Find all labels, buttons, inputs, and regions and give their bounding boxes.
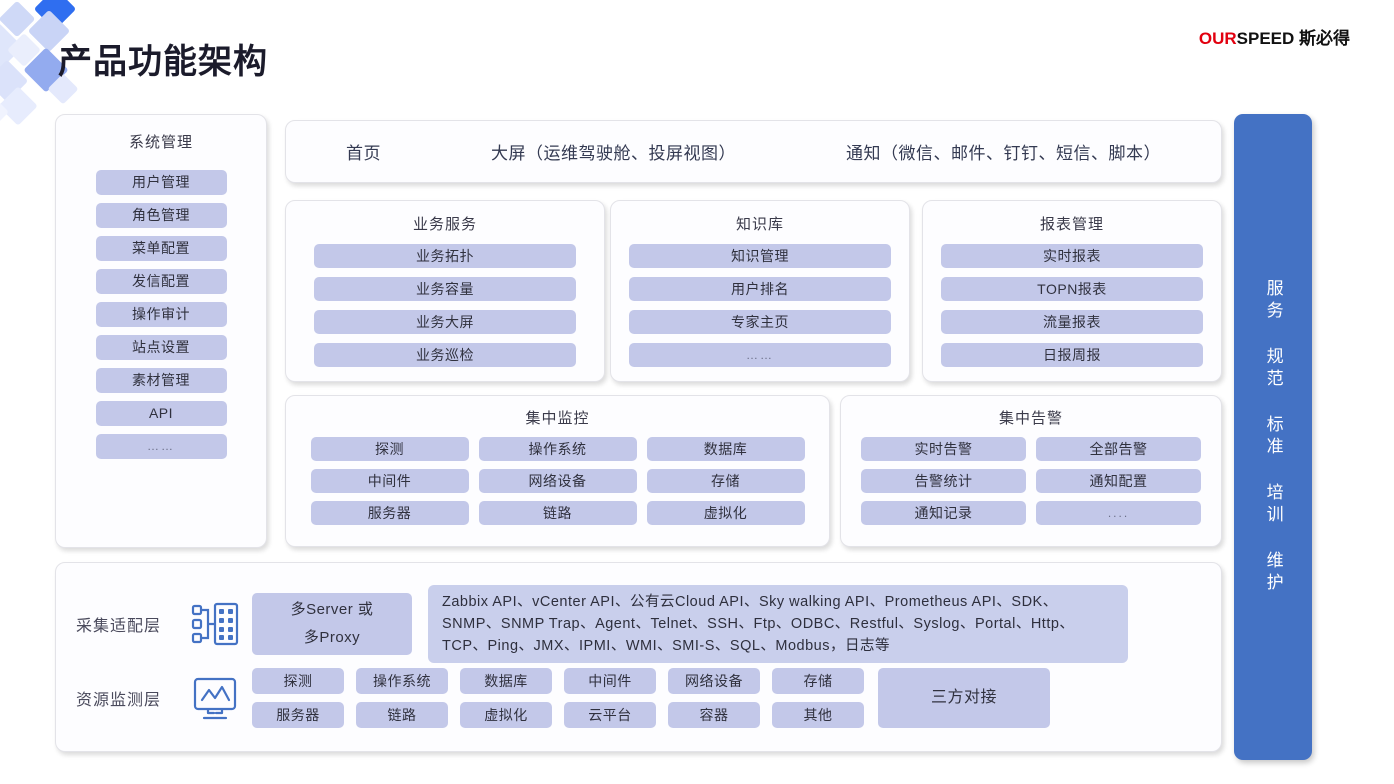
page-title: 产品功能架构 <box>58 34 268 83</box>
res-item-server[interactable]: 服务器 <box>252 702 344 728</box>
central-monitoring-grid: 探测 操作系统 数据库 中间件 网络设备 存储 服务器 链路 虚拟化 <box>286 437 829 525</box>
res-item-storage[interactable]: 存储 <box>772 668 864 694</box>
business-service-title: 业务服务 <box>286 213 604 234</box>
resource-layer-label: 资源监测层 <box>76 686 188 710</box>
monitoring-row: 服务器 链路 虚拟化 <box>311 501 805 525</box>
resource-layer-row: 资源监测层 探测 操作系统 数据库 中间件 网络设备 <box>76 668 1050 728</box>
system-management-list: 用户管理 角色管理 菜单配置 发信配置 操作审计 站点设置 素材管理 API …… <box>56 170 266 459</box>
alm-item-notify-config[interactable]: 通知配置 <box>1036 469 1201 493</box>
sys-item-user[interactable]: 用户管理 <box>96 170 227 195</box>
sys-item-more[interactable]: …… <box>96 434 227 459</box>
alarm-row: 告警统计 通知配置 <box>861 469 1201 493</box>
rep-item-topn[interactable]: TOPN报表 <box>941 277 1203 301</box>
res-item-network[interactable]: 网络设备 <box>668 668 760 694</box>
resource-types-grid: 探测 操作系统 数据库 中间件 网络设备 存储 服务器 链路 虚拟化 云平台 容… <box>252 668 1050 728</box>
resource-types-columns: 探测 操作系统 数据库 中间件 网络设备 存储 服务器 链路 虚拟化 云平台 容… <box>252 668 864 728</box>
sys-item-mail[interactable]: 发信配置 <box>96 269 227 294</box>
alarm-row: 通知记录 .... <box>861 501 1201 525</box>
system-management-card: 系统管理 用户管理 角色管理 菜单配置 发信配置 操作审计 站点设置 素材管理 … <box>55 114 267 548</box>
rep-item-daily[interactable]: 日报周报 <box>941 343 1203 367</box>
monitor-chart-icon <box>188 671 242 725</box>
mon-item-link[interactable]: 链路 <box>479 501 637 525</box>
monitoring-row: 中间件 网络设备 存储 <box>311 469 805 493</box>
res-item-container[interactable]: 容器 <box>668 702 760 728</box>
business-service-list: 业务拓扑 业务容量 业务大屏 业务巡检 <box>286 244 604 367</box>
deploy-mode-pill[interactable]: 多Server 或 多Proxy <box>252 593 412 655</box>
sys-item-role[interactable]: 角色管理 <box>96 203 227 228</box>
service-standard-bar: 服务 规范 标准 培训 维护 <box>1234 114 1312 760</box>
mon-item-middleware[interactable]: 中间件 <box>311 469 469 493</box>
collection-layer-row: 采集适配层 <box>76 585 1128 663</box>
alm-item-statistics[interactable]: 告警统计 <box>861 469 1026 493</box>
brand-logo: OURSPEED 斯必得 <box>1199 24 1350 49</box>
mon-item-virtualization[interactable]: 虚拟化 <box>647 501 805 525</box>
res-item-database[interactable]: 数据库 <box>460 668 552 694</box>
alm-item-notify-record[interactable]: 通知记录 <box>861 501 1026 525</box>
report-management-card: 报表管理 实时报表 TOPN报表 流量报表 日报周报 <box>922 200 1222 382</box>
kb-item-knowledge[interactable]: 知识管理 <box>629 244 891 268</box>
protocol-list: Zabbix API、vCenter API、公有云Cloud API、Sky … <box>428 585 1128 663</box>
deploy-mode-line2: 多Proxy <box>304 629 360 647</box>
central-monitoring-card: 集中监控 探测 操作系统 数据库 中间件 网络设备 存储 服务器 链路 虚拟化 <box>285 395 830 547</box>
mon-item-probe[interactable]: 探测 <box>311 437 469 461</box>
service-standard-bar-label: 服务 规范 标准 培训 维护 <box>1256 279 1289 595</box>
mon-item-network[interactable]: 网络设备 <box>479 469 637 493</box>
mon-item-database[interactable]: 数据库 <box>647 437 805 461</box>
res-item-other[interactable]: 其他 <box>772 702 864 728</box>
central-alarm-grid: 实时告警 全部告警 告警统计 通知配置 通知记录 .... <box>841 437 1221 525</box>
nav-item-notification[interactable]: 通知（微信、邮件、钉钉、短信、脚本） <box>846 139 1161 164</box>
monitoring-row: 探测 操作系统 数据库 <box>311 437 805 461</box>
res-item-probe[interactable]: 探测 <box>252 668 344 694</box>
rep-item-realtime[interactable]: 实时报表 <box>941 244 1203 268</box>
top-nav-items: 首页 大屏（运维驾驶舱、投屏视图） 通知（微信、邮件、钉钉、短信、脚本） <box>286 139 1221 164</box>
brand-secondary: SPEED 斯必得 <box>1237 29 1350 48</box>
slide-canvas: 产品功能架构 OURSPEED 斯必得 系统管理 用户管理 角色管理 菜单配置 … <box>0 0 1394 784</box>
sys-item-api[interactable]: API <box>96 401 227 426</box>
resource-row: 服务器 链路 虚拟化 云平台 容器 其他 <box>252 702 864 728</box>
infrastructure-card: 采集适配层 <box>55 562 1222 752</box>
central-monitoring-title: 集中监控 <box>286 407 829 428</box>
kb-item-more[interactable]: …… <box>629 343 891 367</box>
sys-item-site[interactable]: 站点设置 <box>96 335 227 360</box>
collection-layer-label: 采集适配层 <box>76 612 188 636</box>
mon-item-storage[interactable]: 存储 <box>647 469 805 493</box>
central-alarm-card: 集中告警 实时告警 全部告警 告警统计 通知配置 通知记录 .... <box>840 395 1222 547</box>
res-item-cloud[interactable]: 云平台 <box>564 702 656 728</box>
mon-item-os[interactable]: 操作系统 <box>479 437 637 461</box>
third-party-integration-pill[interactable]: 三方对接 <box>878 668 1050 728</box>
alarm-row: 实时告警 全部告警 <box>861 437 1201 461</box>
brand-primary: OUR <box>1199 29 1237 48</box>
deploy-mode-line1: 多Server 或 <box>291 601 374 619</box>
sys-item-material[interactable]: 素材管理 <box>96 368 227 393</box>
server-rack-icon <box>188 597 242 651</box>
sys-item-menu[interactable]: 菜单配置 <box>96 236 227 261</box>
report-management-title: 报表管理 <box>923 213 1221 234</box>
biz-item-topology[interactable]: 业务拓扑 <box>314 244 576 268</box>
kb-item-expert[interactable]: 专家主页 <box>629 310 891 334</box>
business-service-card: 业务服务 业务拓扑 业务容量 业务大屏 业务巡检 <box>285 200 605 382</box>
biz-item-inspection[interactable]: 业务巡检 <box>314 343 576 367</box>
system-management-title: 系统管理 <box>56 131 266 152</box>
alm-item-more[interactable]: .... <box>1036 501 1201 525</box>
res-item-middleware[interactable]: 中间件 <box>564 668 656 694</box>
knowledge-base-title: 知识库 <box>611 213 909 234</box>
res-item-virtualization[interactable]: 虚拟化 <box>460 702 552 728</box>
rep-item-traffic[interactable]: 流量报表 <box>941 310 1203 334</box>
res-item-link[interactable]: 链路 <box>356 702 448 728</box>
nav-item-home[interactable]: 首页 <box>346 139 381 164</box>
biz-item-bigscreen[interactable]: 业务大屏 <box>314 310 576 334</box>
alm-item-realtime[interactable]: 实时告警 <box>861 437 1026 461</box>
sys-item-audit[interactable]: 操作审计 <box>96 302 227 327</box>
report-management-list: 实时报表 TOPN报表 流量报表 日报周报 <box>923 244 1221 367</box>
knowledge-base-list: 知识管理 用户排名 专家主页 …… <box>611 244 909 367</box>
kb-item-ranking[interactable]: 用户排名 <box>629 277 891 301</box>
mon-item-server[interactable]: 服务器 <box>311 501 469 525</box>
knowledge-base-card: 知识库 知识管理 用户排名 专家主页 …… <box>610 200 910 382</box>
biz-item-capacity[interactable]: 业务容量 <box>314 277 576 301</box>
alm-item-all[interactable]: 全部告警 <box>1036 437 1201 461</box>
resource-row: 探测 操作系统 数据库 中间件 网络设备 存储 <box>252 668 864 694</box>
top-nav-bar: 首页 大屏（运维驾驶舱、投屏视图） 通知（微信、邮件、钉钉、短信、脚本） <box>285 120 1222 183</box>
nav-item-bigscreen[interactable]: 大屏（运维驾驶舱、投屏视图） <box>491 139 736 164</box>
central-alarm-title: 集中告警 <box>841 407 1221 428</box>
res-item-os[interactable]: 操作系统 <box>356 668 448 694</box>
